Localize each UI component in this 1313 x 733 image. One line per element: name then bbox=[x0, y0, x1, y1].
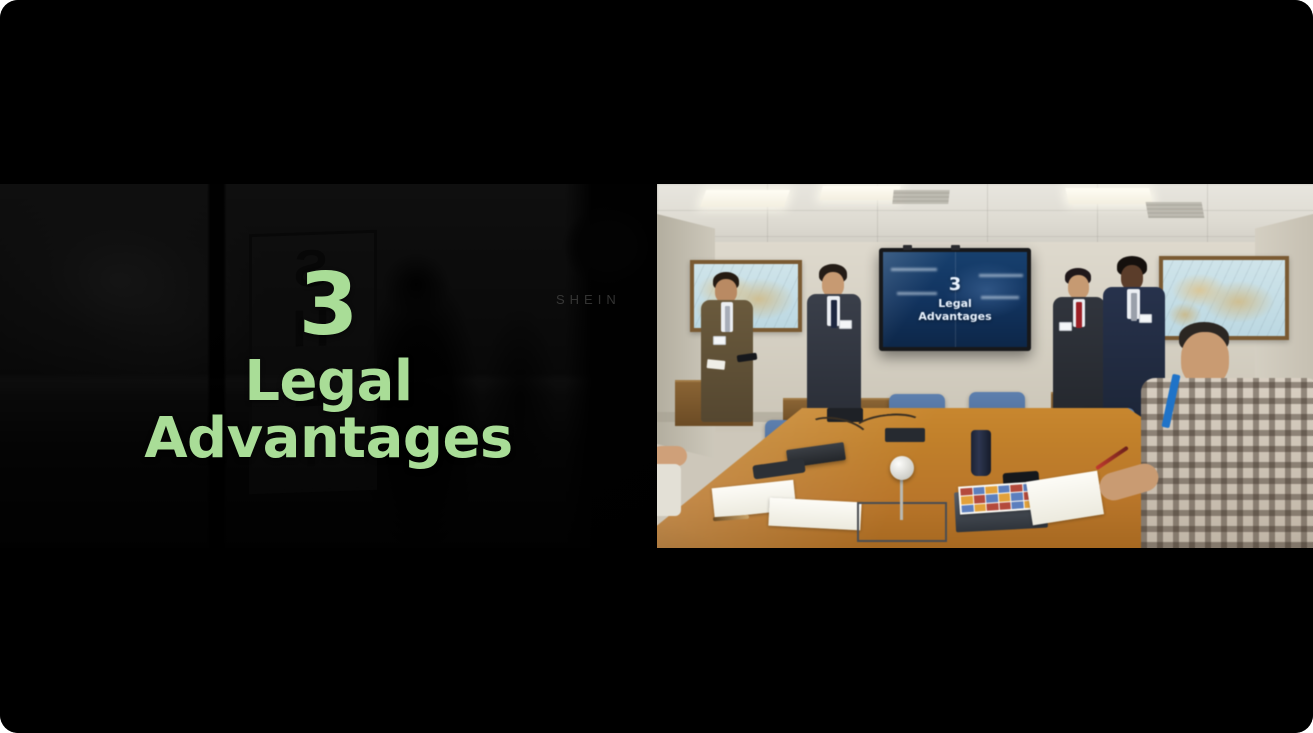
insulated-tumbler bbox=[971, 430, 991, 476]
slide-title-overlay: 3 Legal Advantages bbox=[0, 184, 657, 548]
wall-television[interactable]: 3 Legal Advantages bbox=[879, 248, 1031, 351]
presenter-1-notecard bbox=[707, 359, 726, 370]
slide-title-line-1: Legal bbox=[244, 353, 412, 410]
ceiling-light-2 bbox=[819, 186, 900, 200]
microphone-stem bbox=[900, 476, 903, 520]
presenter-4-name-badge bbox=[1139, 314, 1152, 323]
tv-slide-line-2: Advantages bbox=[918, 311, 991, 324]
ceiling-vent-1 bbox=[892, 190, 949, 204]
tv-slide-content: 3 Legal Advantages bbox=[883, 252, 1027, 347]
tv-slide-number: 3 bbox=[949, 276, 962, 294]
presenter-1-name-badge bbox=[713, 336, 726, 345]
judge-left-sleeve bbox=[657, 464, 681, 516]
tv-camera-right bbox=[951, 245, 960, 250]
presenter-2-tie bbox=[831, 300, 837, 328]
presenter-2-name-badge bbox=[839, 320, 852, 329]
tv-camera-left bbox=[903, 245, 912, 250]
presenter-3-head bbox=[1068, 275, 1089, 299]
presenter-3-name-badge bbox=[1059, 322, 1072, 331]
letterbox-bar-top bbox=[0, 0, 1313, 184]
tv-slide-line-1: Legal bbox=[938, 298, 972, 311]
presenter-4-tie bbox=[1131, 293, 1137, 321]
pane-presentation-slide[interactable]: SHEIN SHEIN 3 Legal Advantages bbox=[0, 184, 657, 548]
slide-number: 3 bbox=[299, 265, 359, 347]
letterbox-bar-bottom bbox=[0, 548, 1313, 733]
presenter-1-tie bbox=[725, 306, 730, 332]
video-player-frame[interactable]: SHEIN SHEIN 3 Legal Advantages bbox=[0, 0, 1313, 733]
ceiling-vent-2 bbox=[1146, 202, 1205, 218]
pane-conference-room[interactable]: 3 Legal Advantages bbox=[657, 184, 1313, 548]
video-stage[interactable]: SHEIN SHEIN 3 Legal Advantages bbox=[0, 184, 1313, 548]
paper-documents-center bbox=[768, 498, 861, 531]
presenter-3-tie bbox=[1076, 302, 1082, 328]
conference-microphone[interactable] bbox=[890, 456, 914, 480]
tv-screen: 3 Legal Advantages bbox=[883, 252, 1027, 347]
slide-title-line-2: Advantages bbox=[144, 410, 513, 467]
ceiling-light-3 bbox=[1065, 188, 1152, 204]
ceiling-light-1 bbox=[700, 190, 790, 207]
judge-left-hand bbox=[657, 446, 687, 466]
